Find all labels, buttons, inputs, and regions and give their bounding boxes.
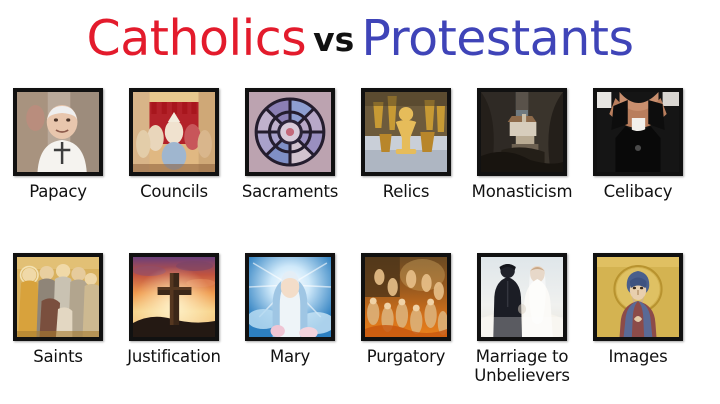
thumbnail-frame bbox=[593, 88, 683, 176]
topic-row-1: Papacy bbox=[0, 88, 720, 201]
orthodox-saint-icon bbox=[597, 257, 679, 337]
topic-cell-celibacy[interactable]: Celibacy bbox=[580, 88, 696, 201]
thumbnail-frame bbox=[593, 253, 683, 341]
topic-row-2: Saints bbox=[0, 253, 720, 385]
topic-label: Sacraments bbox=[242, 183, 338, 201]
topic-label: Mary bbox=[270, 348, 310, 366]
title-word-vs: vs bbox=[306, 20, 361, 59]
topic-cell-relics[interactable]: Relics bbox=[348, 88, 464, 201]
topic-cell-saints[interactable]: Saints bbox=[0, 253, 116, 385]
virgin-mary-icon bbox=[249, 257, 331, 337]
thumbnail-frame bbox=[477, 88, 567, 176]
topic-label: Purgatory bbox=[367, 348, 446, 366]
title-word-catholics: Catholics bbox=[86, 10, 306, 67]
topic-label: Saints bbox=[33, 348, 83, 366]
topic-cell-purgatory[interactable]: Purgatory bbox=[348, 253, 464, 385]
bride-and-groom-icon bbox=[481, 257, 563, 337]
thumbnail-frame bbox=[477, 253, 567, 341]
topic-cell-sacraments[interactable]: Sacraments bbox=[232, 88, 348, 201]
topic-label: Marriage to Unbelievers bbox=[465, 348, 579, 385]
rose-window-stained-glass-icon bbox=[249, 92, 331, 172]
saints-fresco-icon bbox=[17, 257, 99, 337]
topic-cell-marriage-to-unbelievers[interactable]: Marriage to Unbelievers bbox=[464, 253, 580, 385]
thumbnail-frame bbox=[129, 88, 219, 176]
topic-cell-monasticism[interactable]: Monasticism bbox=[464, 88, 580, 201]
topic-label: Papacy bbox=[29, 183, 87, 201]
page-title: CatholicsvsProtestants bbox=[0, 14, 720, 63]
pope-photo-icon bbox=[17, 92, 99, 172]
thumbnail-frame bbox=[129, 253, 219, 341]
topic-label: Images bbox=[608, 348, 667, 366]
topic-cell-mary[interactable]: Mary bbox=[232, 253, 348, 385]
thumbnail-frame bbox=[245, 253, 335, 341]
topic-cell-councils[interactable]: Councils bbox=[116, 88, 232, 201]
topic-label: Justification bbox=[127, 348, 221, 366]
topic-label: Celibacy bbox=[604, 183, 673, 201]
thumbnail-frame bbox=[13, 88, 103, 176]
thumbnail-frame bbox=[361, 88, 451, 176]
topic-cell-papacy[interactable]: Papacy bbox=[0, 88, 116, 201]
topic-cell-images[interactable]: Images bbox=[580, 253, 696, 385]
cross-at-sunset-icon bbox=[133, 257, 215, 337]
topic-label: Monasticism bbox=[472, 183, 573, 201]
thumbnail-frame bbox=[13, 253, 103, 341]
clerical-collar-icon bbox=[597, 92, 679, 172]
topic-cell-justification[interactable]: Justification bbox=[116, 253, 232, 385]
cliff-monastery-icon bbox=[481, 92, 563, 172]
purgatory-souls-painting-icon bbox=[365, 257, 447, 337]
topic-grid: Papacy bbox=[0, 88, 720, 385]
slide-canvas: CatholicsvsProtestants bbox=[0, 0, 720, 404]
church-council-painting-icon bbox=[133, 92, 215, 172]
gold-reliquaries-icon bbox=[365, 92, 447, 172]
thumbnail-frame bbox=[245, 88, 335, 176]
topic-label: Relics bbox=[383, 183, 430, 201]
topic-label: Councils bbox=[140, 183, 208, 201]
title-word-protestants: Protestants bbox=[361, 10, 633, 67]
thumbnail-frame bbox=[361, 253, 451, 341]
